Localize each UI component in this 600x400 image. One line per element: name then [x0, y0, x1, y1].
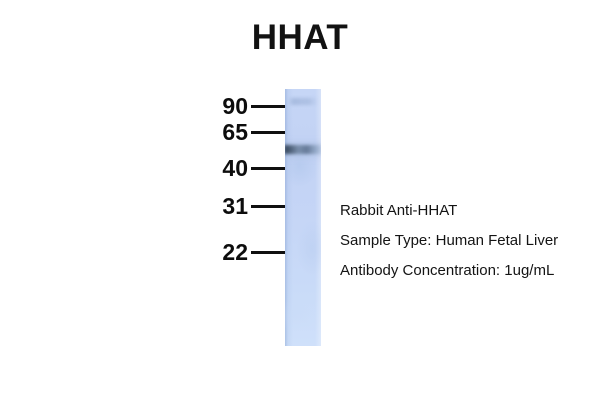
ladder-marker-65: 65 — [0, 119, 290, 145]
ladder-marker-22: 22 — [0, 239, 290, 265]
annotation-block: Rabbit Anti-HHAT Sample Type: Human Feta… — [340, 196, 598, 286]
ladder-tick-icon — [251, 205, 287, 208]
ladder-marker-40: 40 — [0, 155, 290, 181]
annotation-sample-type: Sample Type: Human Fetal Liver — [340, 226, 598, 256]
ladder-label: 65 — [128, 119, 248, 145]
western-blot-figure: HHAT 90 65 40 31 22 Rabbit Anti-HHAT Sa — [0, 0, 600, 400]
faint-band — [288, 98, 318, 105]
ladder-tick-icon — [251, 131, 287, 134]
annotation-antibody: Rabbit Anti-HHAT — [340, 196, 598, 226]
ladder-tick-icon — [251, 105, 287, 108]
ladder-marker-90: 90 — [0, 93, 290, 119]
ladder-marker-31: 31 — [0, 193, 290, 219]
main-band — [285, 145, 321, 154]
main-band-halo — [285, 139, 321, 161]
ladder-label: 40 — [128, 155, 248, 181]
annotation-concentration: Antibody Concentration: 1ug/mL — [340, 256, 598, 286]
ladder-tick-icon — [251, 167, 287, 170]
ladder-label: 31 — [128, 193, 248, 219]
membrane-texture — [285, 89, 321, 346]
ladder-tick-icon — [251, 251, 287, 254]
gel-lane — [285, 89, 321, 346]
molecular-weight-ladder: 90 65 40 31 22 — [0, 0, 290, 400]
ladder-label: 22 — [128, 239, 248, 265]
ladder-label: 90 — [128, 93, 248, 119]
